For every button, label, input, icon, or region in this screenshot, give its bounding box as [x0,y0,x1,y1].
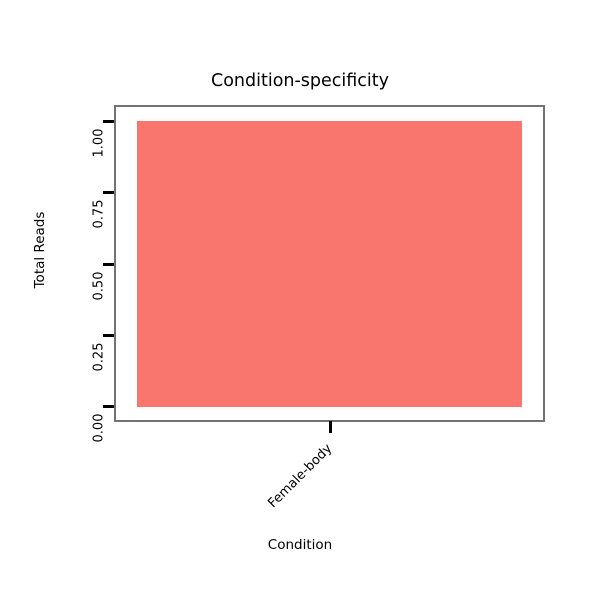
plot-panel [114,105,545,422]
y-tick-label: 0.25 [92,334,107,379]
plot-area [116,107,543,420]
x-axis-title: Condition [0,537,600,553]
y-tick-label: 0.00 [92,406,107,451]
chart-canvas: Condition-specificity 0.000.250.500.751.… [0,0,600,600]
bar[interactable] [137,121,521,407]
y-axis-title: Total Reads [32,212,48,289]
y-tick-label: 1.00 [92,121,107,166]
chart-title: Condition-specificity [0,70,600,92]
x-tick-mark [329,421,332,433]
y-tick-label: 0.50 [92,263,107,308]
y-tick-label: 0.75 [92,192,107,237]
x-tick-label: Female-body [183,441,335,593]
